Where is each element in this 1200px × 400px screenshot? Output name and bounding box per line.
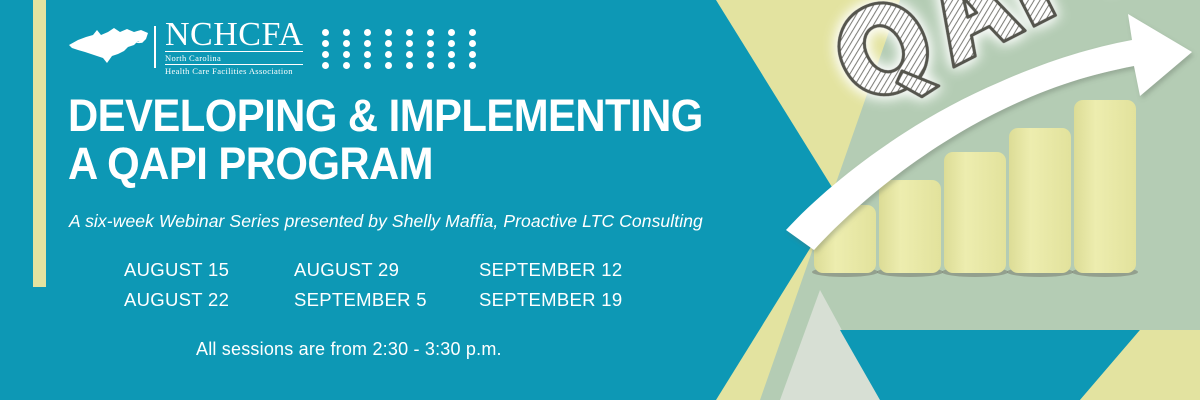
bar-4 xyxy=(1009,128,1071,273)
dot xyxy=(469,40,476,47)
dot xyxy=(406,62,413,69)
dot xyxy=(448,40,455,47)
artwork-svg xyxy=(760,0,1200,400)
dot xyxy=(448,29,455,36)
logo-rule-top xyxy=(165,51,303,52)
session-dates-list: AUGUST 15AUGUST 29SEPTEMBER 12AUGUST 22S… xyxy=(124,259,622,319)
dot xyxy=(448,51,455,58)
dot xyxy=(406,29,413,36)
session-date: SEPTEMBER 19 xyxy=(479,289,622,319)
dot xyxy=(448,62,455,69)
dot xyxy=(322,51,329,58)
dot xyxy=(385,29,392,36)
logo-subtitle-line2: Health Care Facilities Association xyxy=(165,66,303,76)
dot xyxy=(385,62,392,69)
session-date: AUGUST 29 xyxy=(294,259,479,289)
session-date: SEPTEMBER 5 xyxy=(294,289,479,319)
dot xyxy=(385,51,392,58)
accent-stripe xyxy=(33,0,46,287)
dot xyxy=(406,40,413,47)
qapi-letter-q xyxy=(824,0,949,122)
dot xyxy=(322,62,329,69)
dot xyxy=(343,51,350,58)
logo-text-block: NCHCFA North Carolina Health Care Facili… xyxy=(165,19,303,76)
dot xyxy=(427,40,434,47)
dot xyxy=(343,62,350,69)
session-date: AUGUST 22 xyxy=(124,289,294,319)
dot xyxy=(427,51,434,58)
dot xyxy=(364,40,371,47)
dot xyxy=(343,29,350,36)
logo-acronym: NCHCFA xyxy=(165,19,303,50)
logo-divider xyxy=(154,26,156,68)
bar-2 xyxy=(879,180,941,273)
page-title: DEVELOPING & IMPLEMENTING A QAPI PROGRAM xyxy=(68,92,703,188)
nchcfa-logo[interactable]: NCHCFA North Carolina Health Care Facili… xyxy=(68,22,303,72)
dot xyxy=(427,29,434,36)
session-time-note: All sessions are from 2:30 - 3:30 p.m. xyxy=(196,339,502,360)
dot xyxy=(364,51,371,58)
bar-5 xyxy=(1074,100,1136,273)
dot xyxy=(469,29,476,36)
logo-subtitle-line1: North Carolina xyxy=(165,53,303,63)
dot xyxy=(322,29,329,36)
webinar-promo-banner: NCHCFA North Carolina Health Care Facili… xyxy=(0,0,1200,400)
dot-grid-decoration xyxy=(322,29,490,73)
dot xyxy=(406,51,413,58)
dot xyxy=(364,62,371,69)
series-subtitle: A six-week Webinar Series presented by S… xyxy=(69,211,703,232)
dot xyxy=(469,62,476,69)
session-date: SEPTEMBER 12 xyxy=(479,259,622,289)
dot xyxy=(322,40,329,47)
dot xyxy=(385,40,392,47)
dot xyxy=(343,40,350,47)
dot xyxy=(427,62,434,69)
session-date: AUGUST 15 xyxy=(124,259,294,289)
north-carolina-state-outline-icon xyxy=(68,25,150,69)
qapi-letter-a xyxy=(912,0,1025,67)
logo-rule-bottom xyxy=(165,64,303,65)
dot xyxy=(469,51,476,58)
qapi-growth-artwork xyxy=(760,0,1200,400)
bar-3 xyxy=(944,152,1006,273)
dot xyxy=(364,29,371,36)
